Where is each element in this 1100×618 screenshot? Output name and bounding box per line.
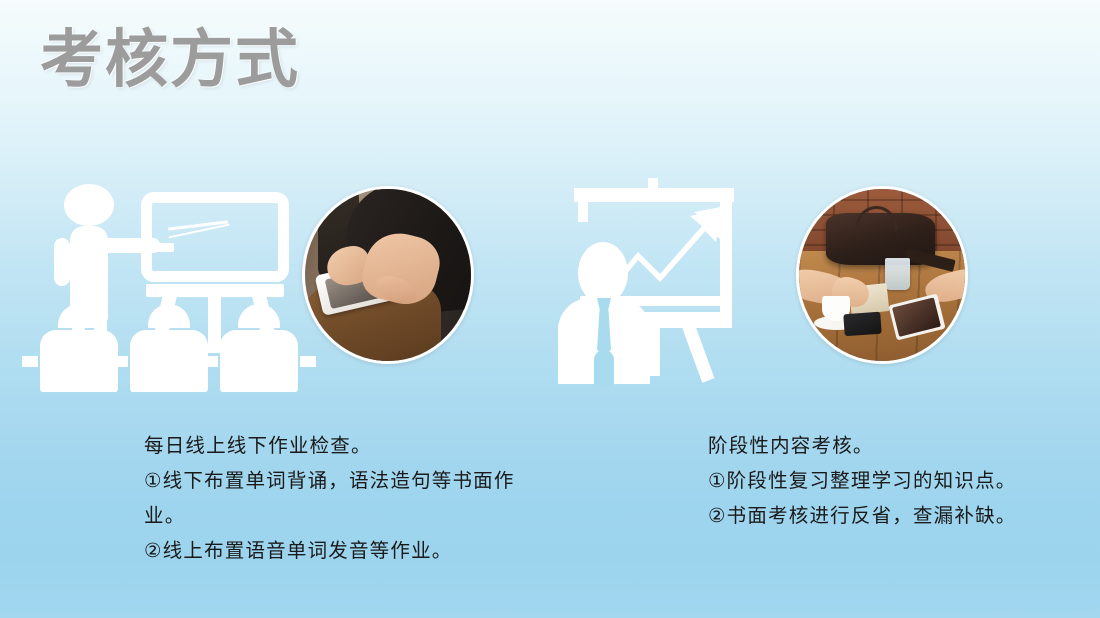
photo-water-glass bbox=[885, 258, 910, 291]
teacher-head-shape bbox=[64, 184, 114, 226]
presentation-chart-icon bbox=[556, 186, 766, 384]
student-arm-shape bbox=[202, 356, 218, 367]
board-left-hook-shape bbox=[578, 202, 588, 222]
cafe-table-study-photo bbox=[796, 186, 968, 364]
board-top-bar-shape bbox=[574, 188, 734, 202]
photo-inner-cafe bbox=[799, 189, 965, 361]
student-head-shape bbox=[238, 304, 280, 328]
daily-homework-text-block: 每日线上线下作业检查。 ①线下布置单词背诵，语法造句等书面作业。 ②线上布置语音… bbox=[144, 428, 544, 568]
board-right-leg-shape bbox=[682, 324, 714, 383]
classroom-teaching-icon bbox=[28, 178, 290, 370]
presenter-head-shape bbox=[578, 242, 628, 304]
photo-inner-tablet bbox=[305, 189, 471, 361]
daily-homework-line-2: ①线下布置单词背诵，语法造句等书面作业。 bbox=[144, 463, 544, 533]
whiteboard-frame-shape bbox=[141, 192, 289, 282]
daily-homework-line-3: ②线上布置语音单词发音等作业。 bbox=[144, 533, 544, 568]
student-head-shape bbox=[148, 304, 190, 328]
student-arm-shape bbox=[22, 356, 38, 367]
student-body-shape bbox=[40, 330, 118, 392]
presenter-tie-shape bbox=[597, 310, 611, 358]
page-title: 考核方式 bbox=[40, 24, 300, 96]
stage-assessment-line-1: 阶段性内容考核。 bbox=[708, 428, 1038, 463]
daily-homework-line-1: 每日线上线下作业检查。 bbox=[144, 428, 544, 463]
student-body-shape bbox=[130, 330, 208, 392]
stage-assessment-line-3: ②书面考核进行反省，查漏补缺。 bbox=[708, 498, 1038, 533]
teacher-left-arm-shape bbox=[54, 238, 70, 286]
stage-assessment-line-2: ①阶段性复习整理学习的知识点。 bbox=[708, 463, 1038, 498]
hands-holding-tablet-photo bbox=[302, 186, 474, 364]
stage-assessment-text-block: 阶段性内容考核。 ①阶段性复习整理学习的知识点。 ②书面考核进行反省，查漏补缺。 bbox=[708, 428, 1038, 533]
student-body-shape bbox=[220, 330, 298, 392]
student-arm-shape bbox=[112, 356, 128, 367]
slide-canvas: 考核方式 bbox=[0, 0, 1100, 618]
photo-smartphone bbox=[843, 312, 881, 337]
